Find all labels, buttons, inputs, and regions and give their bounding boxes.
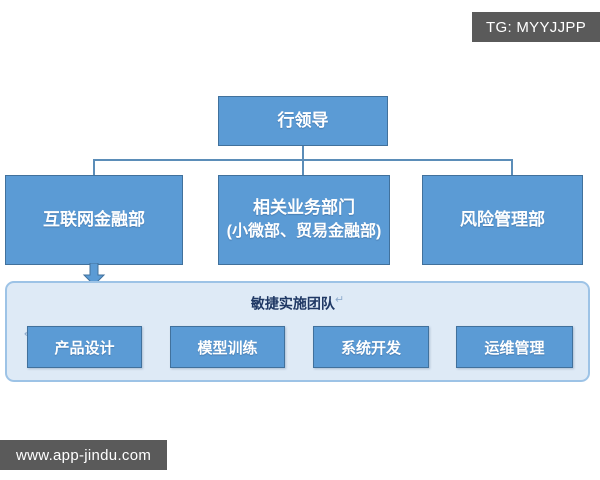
agile-team-title: 敏捷实施团队↵ bbox=[7, 293, 588, 314]
connector-drop-left bbox=[93, 159, 95, 176]
org-node-sublabel: (小微部、贸易金融部) bbox=[227, 220, 382, 243]
org-node-label: 互联网金融部 bbox=[43, 209, 145, 232]
org-node-label: 相关业务部门 bbox=[253, 197, 355, 220]
team-box-operations-management[interactable]: 运维管理 bbox=[456, 326, 573, 368]
connector-drop-center bbox=[302, 159, 304, 176]
team-box-model-training[interactable]: 模型训练 bbox=[170, 326, 285, 368]
diagram-canvas: 行领导 互联网金融部 相关业务部门 (小微部、贸易金融部) 风险管理部 敏捷实施… bbox=[0, 0, 600, 480]
org-node-top-label: 行领导 bbox=[278, 110, 329, 133]
org-node-label: 风险管理部 bbox=[460, 209, 545, 232]
org-node-top-leadership[interactable]: 行领导 bbox=[218, 96, 388, 146]
connector-drop-right bbox=[511, 159, 513, 176]
watermark-top-right: TG: MYYJJPP bbox=[472, 12, 600, 42]
team-box-system-development[interactable]: 系统开发 bbox=[313, 326, 429, 368]
org-node-internet-finance[interactable]: 互联网金融部 bbox=[5, 175, 183, 265]
org-node-related-business[interactable]: 相关业务部门 (小微部、贸易金融部) bbox=[218, 175, 390, 265]
watermark-bottom-left: www.app-jindu.com bbox=[0, 440, 167, 470]
team-box-label: 产品设计 bbox=[54, 337, 114, 358]
agile-team-title-text: 敏捷实施团队 bbox=[251, 296, 335, 312]
team-box-label: 模型训练 bbox=[197, 337, 257, 358]
connector-top-stem bbox=[302, 146, 304, 160]
team-box-label: 运维管理 bbox=[484, 337, 544, 358]
team-box-product-design[interactable]: 产品设计 bbox=[27, 326, 142, 368]
paragraph-mark-icon: ↵ bbox=[335, 294, 344, 306]
org-node-risk-management[interactable]: 风险管理部 bbox=[422, 175, 583, 265]
team-box-label: 系统开发 bbox=[341, 337, 401, 358]
